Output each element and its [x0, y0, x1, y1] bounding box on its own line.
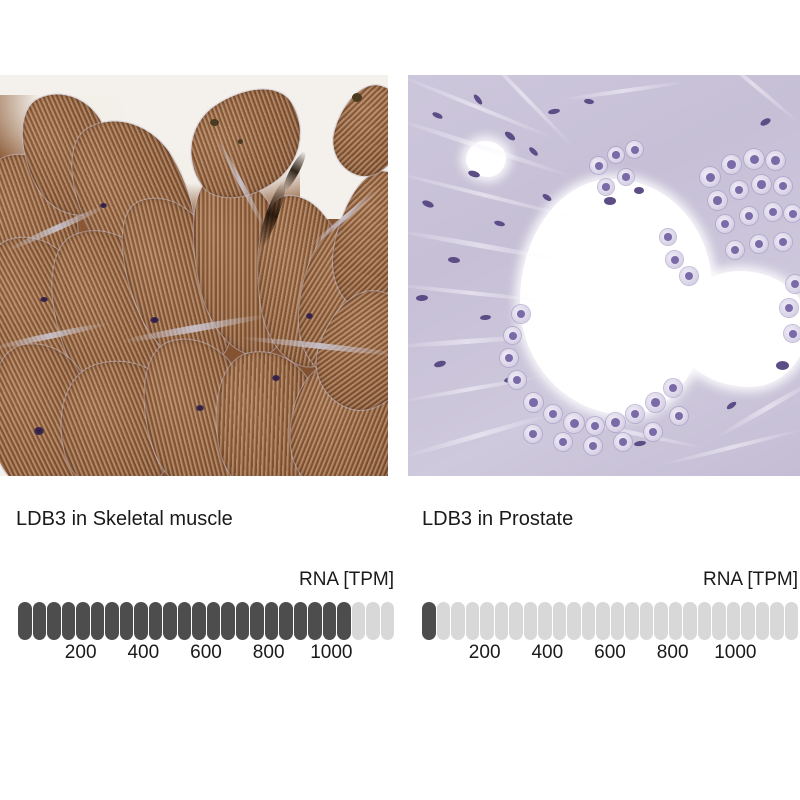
rna-bar-filled	[250, 602, 264, 640]
stroma-nucleus	[634, 187, 644, 194]
rna-bar-empty	[352, 602, 366, 640]
cell-nucleus	[100, 203, 107, 208]
rna-bar-empty	[538, 602, 552, 640]
glandular-epithelial-cell	[722, 155, 741, 174]
glandular-epithelial-cell	[618, 169, 634, 185]
rna-bar-empty	[451, 602, 465, 640]
glandular-epithelial-cell	[544, 405, 562, 423]
rna-axis-tick: 200	[65, 642, 97, 664]
glandular-epithelial-cell	[780, 299, 798, 317]
glandular-epithelial-cell	[524, 425, 542, 443]
glandular-epithelial-cell	[666, 251, 683, 268]
glandular-epithelial-cell	[598, 179, 614, 195]
stroma-nucleus	[776, 361, 789, 370]
glandular-epithelial-cell	[626, 141, 643, 158]
rna-bar-filled	[18, 602, 32, 640]
glandular-epithelial-cell	[708, 191, 727, 210]
immunohistochemistry-micrograph-skeletal-muscle	[0, 75, 388, 476]
rna-axis-tick: 200	[469, 642, 501, 664]
rna-bar-empty	[381, 602, 395, 640]
glandular-epithelial-cell	[726, 241, 744, 259]
rna-bar-empty	[669, 602, 683, 640]
rna-bar-filled	[337, 602, 351, 640]
glandular-epithelial-cell	[670, 407, 688, 425]
rna-bar-filled	[134, 602, 148, 640]
rna-bar-empty	[654, 602, 668, 640]
rna-bar-filled	[265, 602, 279, 640]
rna-bar-filled	[192, 602, 206, 640]
rna-bar-empty	[785, 602, 799, 640]
rna-bar-filled	[294, 602, 308, 640]
gland-lumen	[520, 179, 712, 415]
rna-bar-empty	[480, 602, 494, 640]
rna-gauge-skeletal-muscle: RNA [TPM] 2004006008001000	[18, 568, 394, 668]
glandular-epithelial-cell	[784, 205, 800, 222]
tissue-debris	[210, 119, 219, 126]
rna-bar-filled	[178, 602, 192, 640]
rna-bar-meter[interactable]	[18, 602, 394, 640]
glandular-epithelial-cell	[646, 393, 665, 412]
rna-axis-tick: 800	[253, 642, 285, 664]
rna-bar-empty	[553, 602, 567, 640]
glandular-epithelial-cell	[508, 371, 526, 389]
glandular-epithelial-cell	[744, 149, 764, 169]
rna-axis-tick: 1000	[714, 642, 756, 664]
glandular-epithelial-cell	[660, 229, 676, 245]
cell-nucleus	[40, 297, 48, 302]
glandular-epithelial-cell	[614, 433, 632, 451]
cell-nucleus	[34, 427, 44, 435]
rna-bar-empty	[741, 602, 755, 640]
rna-axis-ticks: 2004006008001000	[18, 642, 394, 668]
rna-bar-empty	[698, 602, 712, 640]
tissue-debris	[238, 139, 243, 144]
rna-bar-empty	[640, 602, 654, 640]
rna-axis-tick: 400	[127, 642, 159, 664]
panel-caption-skeletal-muscle: LDB3 in Skeletal muscle	[16, 508, 233, 531]
glandular-epithelial-cell	[608, 147, 624, 163]
rna-axis-tick: 400	[531, 642, 563, 664]
rna-bar-filled	[76, 602, 90, 640]
glandular-epithelial-cell	[766, 151, 785, 170]
rna-bar-empty	[366, 602, 380, 640]
rna-axis-ticks: 2004006008001000	[422, 642, 798, 668]
rna-bar-empty	[712, 602, 726, 640]
glandular-epithelial-cell	[752, 175, 771, 194]
rna-gauge-prostate: RNA [TPM] 2004006008001000	[422, 568, 798, 668]
rna-bar-filled	[62, 602, 76, 640]
rna-bar-empty	[611, 602, 625, 640]
cell-nucleus	[150, 317, 159, 323]
rna-bar-filled	[47, 602, 61, 640]
stroma-nucleus	[604, 197, 616, 205]
panel-caption-prostate: LDB3 in Prostate	[422, 508, 573, 531]
rna-bar-empty	[567, 602, 581, 640]
glandular-epithelial-cell	[554, 433, 572, 451]
rna-bar-filled	[279, 602, 293, 640]
rna-bar-meter[interactable]	[422, 602, 798, 640]
rna-bar-filled	[422, 602, 436, 640]
cell-nucleus	[272, 375, 280, 381]
rna-bar-empty	[509, 602, 523, 640]
immunohistochemistry-micrograph-prostate	[408, 75, 800, 476]
glandular-epithelial-cell	[764, 203, 782, 221]
glandular-epithelial-cell	[586, 417, 604, 435]
rna-bar-empty	[756, 602, 770, 640]
rna-bar-filled	[120, 602, 134, 640]
rna-bar-empty	[524, 602, 538, 640]
glandular-epithelial-cell	[680, 267, 698, 285]
rna-bar-filled	[163, 602, 177, 640]
glandular-epithelial-cell	[716, 215, 734, 233]
glandular-epithelial-cell	[784, 325, 800, 342]
glandular-epithelial-cell	[644, 423, 662, 441]
glandular-epithelial-cell	[504, 327, 521, 344]
rna-bar-empty	[596, 602, 610, 640]
cell-nucleus	[196, 405, 204, 411]
rna-bar-empty	[495, 602, 509, 640]
glandular-epithelial-cell	[606, 413, 625, 432]
rna-axis-tick: 600	[190, 642, 222, 664]
glandular-epithelial-cell	[730, 181, 748, 199]
micrograph-panels	[0, 75, 800, 476]
rna-axis-tick: 800	[657, 642, 689, 664]
glandular-epithelial-cell	[500, 349, 518, 367]
glandular-epithelial-cell	[512, 305, 530, 323]
rna-bar-empty	[727, 602, 741, 640]
rna-bar-filled	[105, 602, 119, 640]
rna-bar-empty	[625, 602, 639, 640]
rna-bar-empty	[770, 602, 784, 640]
rna-bar-filled	[91, 602, 105, 640]
rna-bar-filled	[308, 602, 322, 640]
glandular-epithelial-cell	[740, 207, 758, 225]
glandular-epithelial-cell	[584, 437, 602, 455]
rna-bar-filled	[236, 602, 250, 640]
rna-bar-filled	[221, 602, 235, 640]
glandular-epithelial-cell	[590, 157, 607, 174]
glandular-epithelial-cell	[774, 233, 792, 251]
rna-bar-filled	[149, 602, 163, 640]
glandular-epithelial-cell	[774, 177, 792, 195]
blank-slide-region-3	[0, 75, 135, 95]
rna-axis-tick: 1000	[310, 642, 352, 664]
glandular-epithelial-cell	[700, 167, 720, 187]
rna-bar-empty	[683, 602, 697, 640]
rna-bar-filled	[207, 602, 221, 640]
glandular-epithelial-cell	[564, 413, 584, 433]
glandular-epithelial-cell	[786, 275, 800, 293]
rna-axis-tick: 600	[594, 642, 626, 664]
glandular-epithelial-cell	[750, 235, 768, 253]
glandular-epithelial-cell	[626, 405, 644, 423]
panel-skeletal-muscle[interactable]	[0, 75, 388, 476]
rna-tpm-label: RNA [TPM]	[422, 568, 798, 592]
rna-bar-empty	[582, 602, 596, 640]
glandular-epithelial-cell	[524, 393, 543, 412]
panel-prostate[interactable]	[408, 75, 800, 476]
rna-bar-empty	[466, 602, 480, 640]
rna-tpm-label: RNA [TPM]	[18, 568, 394, 592]
rna-bar-filled	[323, 602, 337, 640]
glandular-epithelial-cell	[664, 379, 682, 397]
rna-bar-filled	[33, 602, 47, 640]
tissue-debris	[352, 93, 362, 102]
cell-nucleus	[306, 313, 313, 319]
rna-bar-empty	[437, 602, 451, 640]
